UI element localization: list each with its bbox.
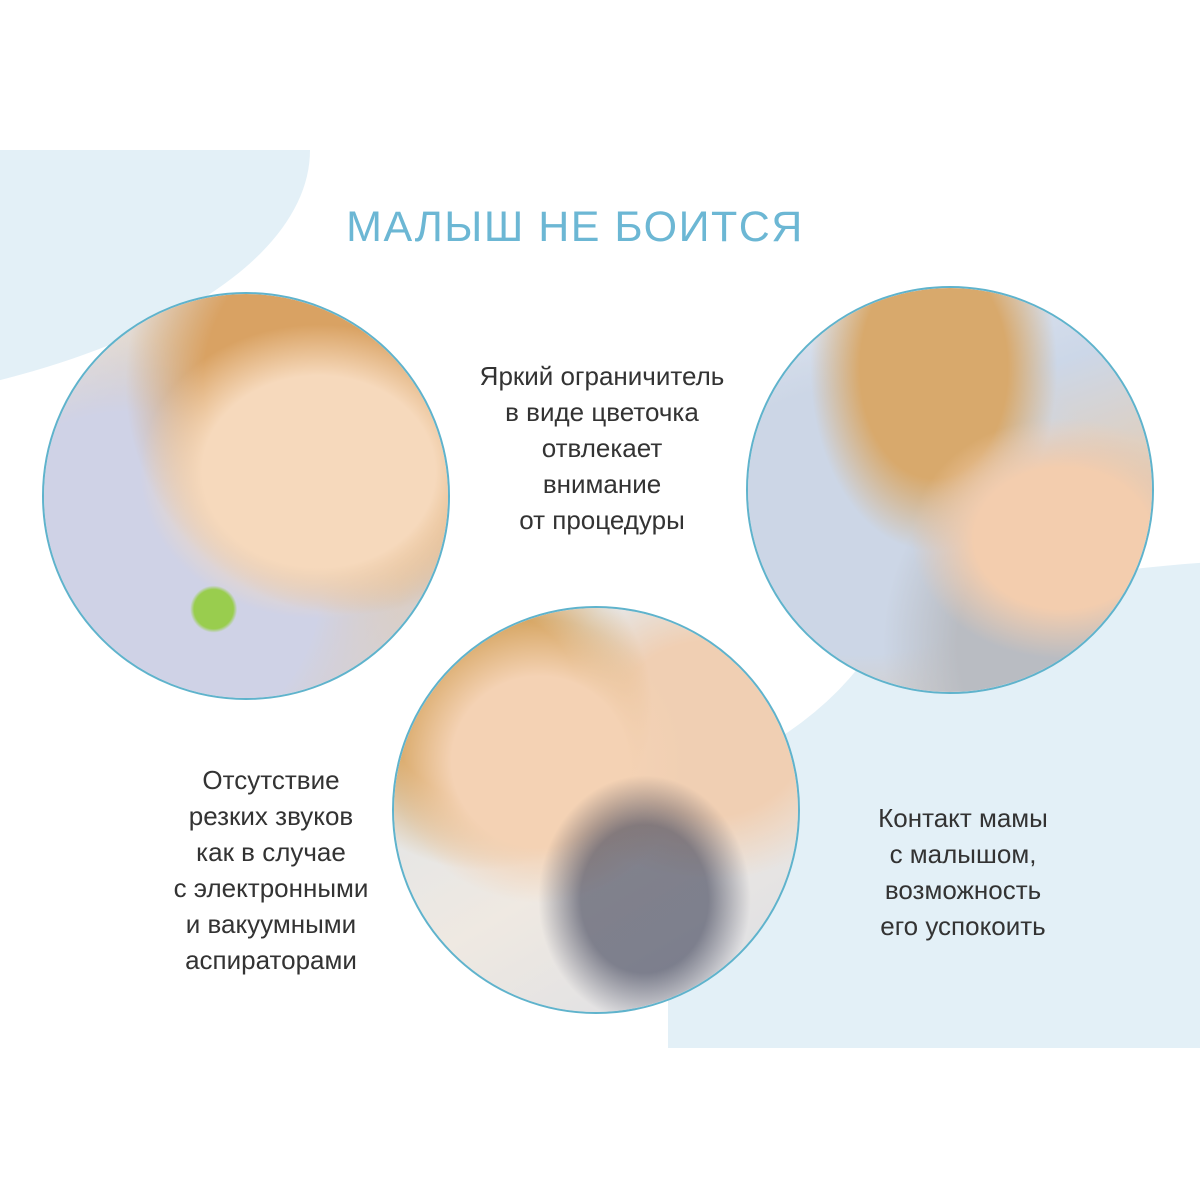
- caption-line: и вакуумными: [130, 906, 412, 942]
- caption-line: от процедуры: [452, 502, 752, 538]
- mother-contact-caption: Контакт мамы с малышом, возможность его …: [838, 800, 1088, 944]
- caption-line: отвлекает: [452, 430, 752, 466]
- caption-line: возможность: [838, 872, 1088, 908]
- caption-line: с электронными: [130, 870, 412, 906]
- caption-line: как в случае: [130, 834, 412, 870]
- slide-canvas: МАЛЫШ НЕ БОИТСЯ Яркий ограничитель в вид…: [0, 0, 1200, 1200]
- caption-line: резких звуков: [130, 798, 412, 834]
- page-title: МАЛЫШ НЕ БОИТСЯ: [0, 206, 1150, 249]
- caption-line: Отсутствие: [130, 762, 412, 798]
- photo-mom-flower-image: [44, 294, 448, 698]
- bright-limiter-caption: Яркий ограничитель в виде цветочка отвле…: [452, 358, 752, 538]
- photo-baby-aspirator-image: [394, 608, 798, 1012]
- caption-line: внимание: [452, 466, 752, 502]
- caption-line: Контакт мамы: [838, 800, 1088, 836]
- photo-baby-aspirator: [392, 606, 800, 1014]
- photo-mom-baby: [746, 286, 1154, 694]
- caption-line: Яркий ограничитель: [452, 358, 752, 394]
- caption-line: аспираторами: [130, 942, 412, 978]
- photo-mom-flower: [42, 292, 450, 700]
- caption-line: с малышом,: [838, 836, 1088, 872]
- no-harsh-sounds-caption: Отсутствие резких звуков как в случае с …: [130, 762, 412, 978]
- photo-mom-baby-image: [748, 288, 1152, 692]
- caption-line: в виде цветочка: [452, 394, 752, 430]
- caption-line: его успокоить: [838, 908, 1088, 944]
